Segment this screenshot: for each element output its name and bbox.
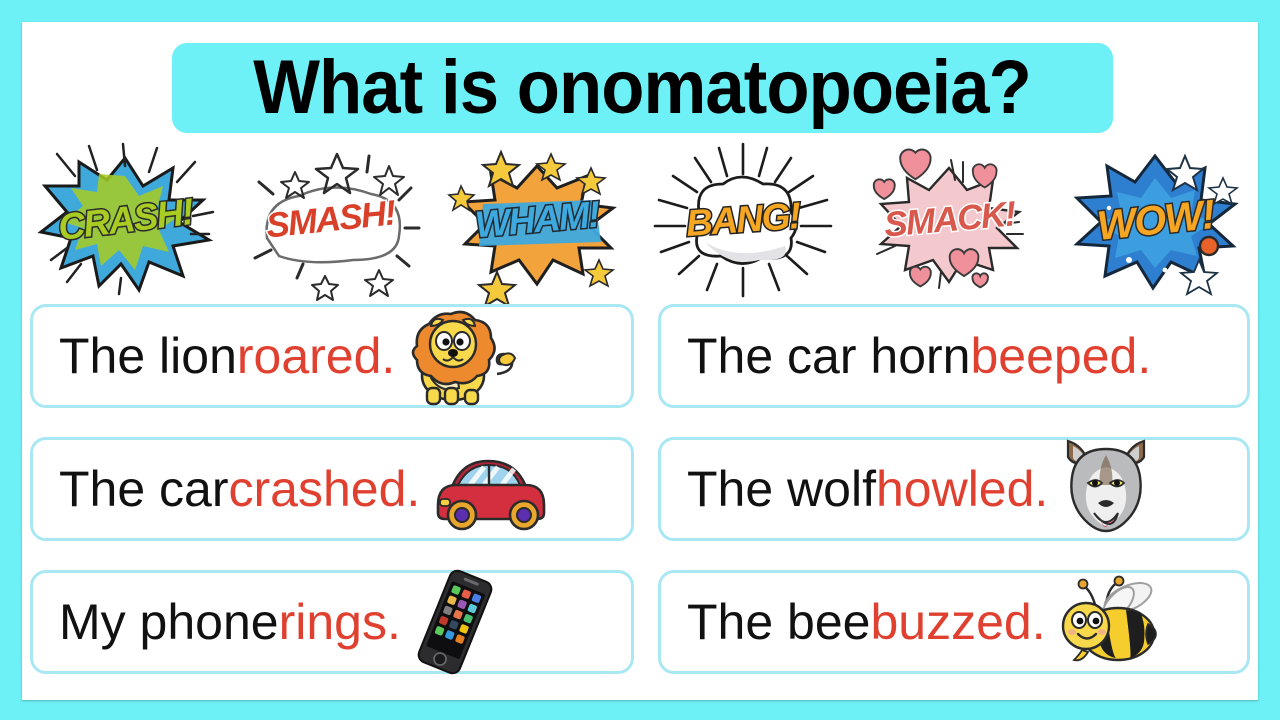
card-row-2: The car crashed . [30, 437, 1250, 541]
sentence-plain-car-crash: The car [59, 464, 229, 514]
sound-word-beeped: beeped [970, 331, 1137, 381]
card-row-3: My phone rings . [30, 570, 1250, 674]
lion-emoji [401, 304, 517, 408]
period-lion: . [381, 331, 395, 381]
sentence-plain-car-horn: The car horn [687, 331, 970, 381]
sentence-text-wolf: The wolf howled . [661, 433, 1158, 545]
period-car-crash: . [406, 464, 420, 514]
sentence-card-car-crash[interactable]: The car crashed . [30, 437, 634, 541]
wolf-face-emoji [1054, 433, 1158, 545]
sentence-card-lion[interactable]: The lion roared . [30, 304, 634, 408]
poster-root: What is onomatopoeia? [0, 0, 1280, 720]
burst-bang: BANG! [645, 142, 841, 298]
burst-smash: SMASH! [233, 142, 429, 298]
sentence-text-car-horn: The car horn beeped . [661, 331, 1151, 381]
mobile-phone-emoji [407, 567, 503, 677]
sentence-plain-lion: The lion [59, 331, 237, 381]
burst-word-bang: BANG! [685, 195, 801, 245]
sentence-plain-wolf: The wolf [687, 464, 876, 514]
sentence-plain-phone: My phone [59, 597, 279, 647]
sound-word-roared: roared [237, 331, 382, 381]
sentence-card-grid: The lion roared . [30, 304, 1250, 694]
period-phone: . [387, 597, 401, 647]
period-wolf: . [1034, 464, 1048, 514]
onomatopoeia-burst-row: CRASH! [22, 140, 1258, 300]
period-car-horn: . [1137, 331, 1151, 381]
sentence-card-car-horn[interactable]: The car horn beeped . [658, 304, 1250, 408]
sentence-text-bee: The bee buzzed . [661, 574, 1168, 670]
burst-wow: WOW! [1057, 142, 1253, 298]
sound-word-buzzed: buzzed [870, 597, 1031, 647]
sound-word-howled: howled [876, 464, 1034, 514]
title-banner: What is onomatopoeia? [172, 43, 1113, 133]
sentence-text-car-crash: The car crashed . [33, 443, 552, 535]
car-emoji [426, 443, 552, 535]
burst-smack: SMACK! [851, 142, 1047, 298]
card-row-1: The lion roared . [30, 304, 1250, 408]
sentence-card-bee[interactable]: The bee buzzed . [658, 570, 1250, 674]
honeybee-emoji [1052, 574, 1168, 670]
sound-word-crashed: crashed [229, 464, 407, 514]
sentence-text-phone: My phone rings . [33, 567, 503, 677]
sentence-plain-bee: The bee [687, 597, 870, 647]
sentence-card-phone[interactable]: My phone rings . [30, 570, 634, 674]
poster-canvas: What is onomatopoeia? [22, 22, 1258, 700]
burst-wham: WHAM! [439, 142, 635, 298]
sentence-text-lion: The lion roared . [33, 304, 517, 408]
sentence-card-wolf[interactable]: The wolf howled . [658, 437, 1250, 541]
sound-word-rings: rings [279, 597, 387, 647]
period-bee: . [1032, 597, 1046, 647]
page-title: What is onomatopoeia? [254, 50, 1032, 126]
burst-crash: CRASH! [27, 142, 223, 298]
